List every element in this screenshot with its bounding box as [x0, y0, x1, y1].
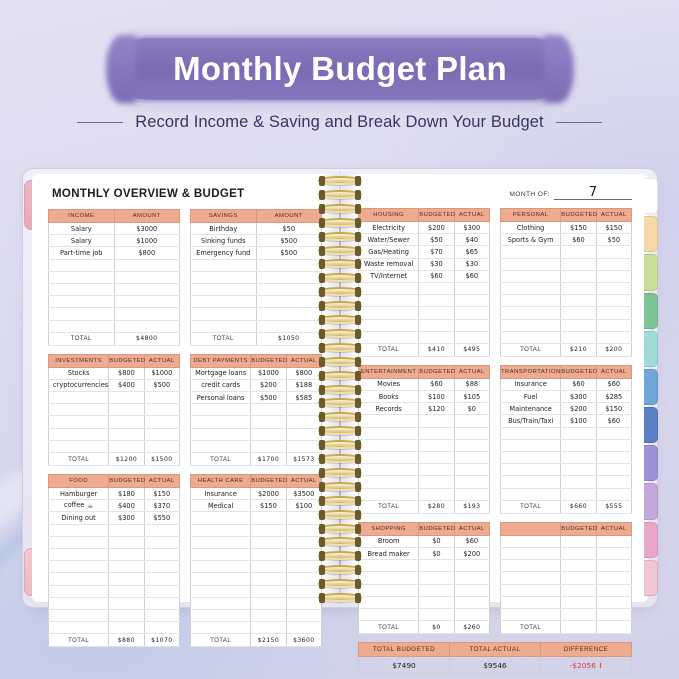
- table-row[interactable]: Gas/Heating$70$65: [359, 246, 490, 258]
- empty-cell[interactable]: [191, 524, 251, 536]
- table-row[interactable]: Medical$150$100: [191, 500, 322, 512]
- row-value[interactable]: $60: [561, 378, 596, 390]
- empty-cell[interactable]: [191, 296, 257, 308]
- row-label[interactable]: Mortgage loans: [191, 367, 251, 379]
- table-row-blank[interactable]: [359, 439, 490, 451]
- row-value[interactable]: $300: [109, 512, 144, 524]
- empty-cell[interactable]: [359, 572, 419, 584]
- empty-cell[interactable]: [359, 439, 419, 451]
- row-label[interactable]: Part-time job: [49, 247, 115, 259]
- empty-cell[interactable]: [114, 283, 180, 295]
- empty-cell[interactable]: [561, 572, 596, 584]
- empty-cell[interactable]: [454, 415, 489, 427]
- table-row-blank[interactable]: [191, 548, 322, 560]
- table-row-blank[interactable]: [501, 464, 632, 476]
- empty-cell[interactable]: [286, 440, 321, 452]
- empty-cell[interactable]: [191, 271, 257, 283]
- empty-cell[interactable]: [49, 561, 109, 573]
- table-row-blank[interactable]: [359, 596, 490, 608]
- row-label[interactable]: Movies: [359, 378, 419, 390]
- empty-cell[interactable]: [501, 452, 561, 464]
- row-label[interactable]: Salary: [49, 235, 115, 247]
- table-row-blank[interactable]: [501, 488, 632, 500]
- table-row-blank[interactable]: [49, 440, 180, 452]
- table-row-blank[interactable]: [191, 320, 322, 332]
- empty-cell[interactable]: [286, 622, 321, 634]
- empty-cell[interactable]: [286, 416, 321, 428]
- empty-cell[interactable]: [419, 608, 454, 620]
- empty-cell[interactable]: [251, 536, 286, 548]
- table-row[interactable]: Insurance$2000$3500: [191, 488, 322, 500]
- empty-cell[interactable]: [454, 560, 489, 572]
- row-value[interactable]: $60: [454, 270, 489, 282]
- empty-cell[interactable]: [454, 608, 489, 620]
- table-row[interactable]: Dining out$300$550: [49, 512, 180, 524]
- row-value[interactable]: $188: [286, 379, 321, 391]
- table-row-blank[interactable]: [49, 308, 180, 320]
- empty-cell[interactable]: [109, 548, 144, 560]
- empty-cell[interactable]: [251, 440, 286, 452]
- row-value[interactable]: $0: [454, 403, 489, 415]
- table-row-blank[interactable]: [359, 560, 490, 572]
- empty-cell[interactable]: [144, 440, 179, 452]
- table-row[interactable]: TV/Internet$60$60: [359, 270, 490, 282]
- row-value[interactable]: $800: [109, 367, 144, 379]
- empty-cell[interactable]: [251, 428, 286, 440]
- empty-cell[interactable]: [419, 488, 454, 500]
- table-row[interactable]: Salary$1000: [49, 235, 180, 247]
- row-label[interactable]: Dining out: [49, 512, 109, 524]
- row-value[interactable]: $300: [454, 222, 489, 234]
- row-label[interactable]: Gas/Heating: [359, 246, 419, 258]
- empty-cell[interactable]: [251, 609, 286, 621]
- row-value[interactable]: $150: [144, 488, 179, 500]
- empty-cell[interactable]: [419, 584, 454, 596]
- divider-tab-5[interactable]: [644, 369, 658, 405]
- empty-cell[interactable]: [114, 271, 180, 283]
- row-value[interactable]: $100: [561, 415, 596, 427]
- empty-cell[interactable]: [454, 452, 489, 464]
- row-value[interactable]: $550: [144, 512, 179, 524]
- table-row-blank[interactable]: [191, 404, 322, 416]
- empty-cell[interactable]: [114, 308, 180, 320]
- empty-cell[interactable]: [359, 488, 419, 500]
- empty-cell[interactable]: [501, 295, 561, 307]
- row-value[interactable]: $100: [286, 500, 321, 512]
- row-value[interactable]: $300: [561, 391, 596, 403]
- row-label[interactable]: Electricity: [359, 222, 419, 234]
- empty-cell[interactable]: [191, 308, 257, 320]
- divider-tab-0[interactable]: [644, 178, 658, 214]
- summary-value[interactable]: $7490: [359, 657, 450, 674]
- empty-cell[interactable]: [359, 331, 419, 343]
- table-row-blank[interactable]: [359, 488, 490, 500]
- table-row-blank[interactable]: [191, 561, 322, 573]
- row-value[interactable]: $180: [109, 488, 144, 500]
- empty-cell[interactable]: [286, 524, 321, 536]
- empty-cell[interactable]: [454, 307, 489, 319]
- empty-cell[interactable]: [109, 585, 144, 597]
- empty-cell[interactable]: [561, 464, 596, 476]
- row-label[interactable]: Bread maker: [359, 547, 419, 559]
- empty-cell[interactable]: [49, 320, 115, 332]
- empty-cell[interactable]: [419, 596, 454, 608]
- empty-cell[interactable]: [191, 440, 251, 452]
- empty-cell[interactable]: [501, 476, 561, 488]
- month-of-field[interactable]: MONTH OF: 7: [509, 186, 632, 200]
- empty-cell[interactable]: [596, 307, 631, 319]
- empty-cell[interactable]: [419, 464, 454, 476]
- empty-cell[interactable]: [286, 536, 321, 548]
- table-row-blank[interactable]: [359, 476, 490, 488]
- empty-cell[interactable]: [359, 596, 419, 608]
- row-label[interactable]: credit cards: [191, 379, 251, 391]
- empty-cell[interactable]: [359, 427, 419, 439]
- empty-cell[interactable]: [561, 452, 596, 464]
- table-row-blank[interactable]: [501, 572, 632, 584]
- row-label[interactable]: Bus/Train/Taxi: [501, 415, 561, 427]
- table-row[interactable]: Waste removal$30$30: [359, 258, 490, 270]
- row-value[interactable]: $500: [144, 379, 179, 391]
- table-row-blank[interactable]: [49, 597, 180, 609]
- empty-cell[interactable]: [49, 573, 109, 585]
- empty-cell[interactable]: [596, 246, 631, 258]
- row-value[interactable]: $50: [596, 234, 631, 246]
- row-value[interactable]: $370: [144, 500, 179, 512]
- summary-value[interactable]: $9546: [450, 657, 541, 674]
- row-value[interactable]: $60: [419, 270, 454, 282]
- table-row[interactable]: Stocks$800$1000: [49, 367, 180, 379]
- empty-cell[interactable]: [49, 536, 109, 548]
- empty-cell[interactable]: [561, 596, 596, 608]
- empty-cell[interactable]: [419, 476, 454, 488]
- row-label[interactable]: Broom: [359, 535, 419, 547]
- row-label[interactable]: TV/Internet: [359, 270, 419, 282]
- row-value[interactable]: $400: [109, 500, 144, 512]
- empty-cell[interactable]: [49, 392, 109, 404]
- empty-cell[interactable]: [419, 282, 454, 294]
- empty-cell[interactable]: [109, 536, 144, 548]
- empty-cell[interactable]: [596, 282, 631, 294]
- row-value[interactable]: $120: [419, 403, 454, 415]
- row-value[interactable]: $60: [596, 415, 631, 427]
- table-row[interactable]: Movies$60$88: [359, 378, 490, 390]
- empty-cell[interactable]: [359, 452, 419, 464]
- table-row[interactable]: Water/Sewer$50$40: [359, 234, 490, 246]
- empty-cell[interactable]: [251, 416, 286, 428]
- empty-cell[interactable]: [596, 584, 631, 596]
- empty-cell[interactable]: [49, 283, 115, 295]
- table-row[interactable]: credit cards$200$188: [191, 379, 322, 391]
- table-row-blank[interactable]: [501, 560, 632, 572]
- row-value[interactable]: $400: [109, 379, 144, 391]
- empty-cell[interactable]: [49, 548, 109, 560]
- empty-cell[interactable]: [251, 597, 286, 609]
- table-row[interactable]: cryptocurrencies$400$500: [49, 379, 180, 391]
- empty-cell[interactable]: [359, 307, 419, 319]
- empty-cell[interactable]: [49, 524, 109, 536]
- table-row-blank[interactable]: [49, 622, 180, 634]
- table-row-blank[interactable]: [501, 452, 632, 464]
- row-value[interactable]: $200: [419, 222, 454, 234]
- empty-cell[interactable]: [596, 560, 631, 572]
- empty-cell[interactable]: [191, 259, 257, 271]
- empty-cell[interactable]: [286, 609, 321, 621]
- empty-cell[interactable]: [454, 427, 489, 439]
- empty-cell[interactable]: [144, 536, 179, 548]
- table-row-blank[interactable]: [191, 440, 322, 452]
- table-row-blank[interactable]: [359, 307, 490, 319]
- empty-cell[interactable]: [359, 464, 419, 476]
- empty-cell[interactable]: [419, 331, 454, 343]
- empty-cell[interactable]: [109, 573, 144, 585]
- table-row-blank[interactable]: [191, 536, 322, 548]
- row-value[interactable]: $30: [454, 258, 489, 270]
- empty-cell[interactable]: [561, 488, 596, 500]
- empty-cell[interactable]: [596, 464, 631, 476]
- empty-cell[interactable]: [359, 282, 419, 294]
- table-row[interactable]: Records$120$0: [359, 403, 490, 415]
- table-row-blank[interactable]: [191, 622, 322, 634]
- row-value[interactable]: $60: [596, 378, 631, 390]
- row-label[interactable]: Fuel: [501, 391, 561, 403]
- empty-cell[interactable]: [419, 560, 454, 572]
- empty-cell[interactable]: [561, 547, 596, 559]
- empty-cell[interactable]: [286, 573, 321, 585]
- empty-cell[interactable]: [191, 416, 251, 428]
- divider-tab-7[interactable]: [644, 445, 658, 481]
- empty-cell[interactable]: [561, 331, 596, 343]
- table-row-blank[interactable]: [359, 584, 490, 596]
- empty-cell[interactable]: [501, 427, 561, 439]
- empty-cell[interactable]: [49, 428, 109, 440]
- empty-cell[interactable]: [501, 596, 561, 608]
- empty-cell[interactable]: [561, 560, 596, 572]
- table-row-blank[interactable]: [359, 452, 490, 464]
- empty-cell[interactable]: [191, 548, 251, 560]
- empty-cell[interactable]: [114, 320, 180, 332]
- row-label[interactable]: cryptocurrencies: [49, 379, 109, 391]
- table-row[interactable]: Electricity$200$300: [359, 222, 490, 234]
- empty-cell[interactable]: [191, 283, 257, 295]
- empty-cell[interactable]: [501, 282, 561, 294]
- empty-cell[interactable]: [419, 427, 454, 439]
- empty-cell[interactable]: [561, 282, 596, 294]
- row-label[interactable]: Emergency fund: [191, 247, 257, 259]
- row-value[interactable]: $0: [419, 535, 454, 547]
- row-value[interactable]: $0: [419, 547, 454, 559]
- empty-cell[interactable]: [596, 270, 631, 282]
- empty-cell[interactable]: [109, 597, 144, 609]
- table-row[interactable]: Emergency fund$500: [191, 247, 322, 259]
- table-row-blank[interactable]: [501, 258, 632, 270]
- table-row[interactable]: Bread maker$0$200: [359, 547, 490, 559]
- table-row[interactable]: Bus/Train/Taxi$100$60: [501, 415, 632, 427]
- divider-tab-6[interactable]: [644, 407, 658, 443]
- empty-cell[interactable]: [49, 585, 109, 597]
- empty-cell[interactable]: [109, 392, 144, 404]
- table-row-blank[interactable]: [49, 585, 180, 597]
- table-row-blank[interactable]: [191, 296, 322, 308]
- empty-cell[interactable]: [49, 622, 109, 634]
- empty-cell[interactable]: [561, 307, 596, 319]
- empty-cell[interactable]: [454, 476, 489, 488]
- table-row-blank[interactable]: [191, 512, 322, 524]
- row-value[interactable]: $200: [251, 379, 286, 391]
- empty-cell[interactable]: [49, 440, 109, 452]
- row-value[interactable]: $150: [561, 222, 596, 234]
- empty-cell[interactable]: [144, 597, 179, 609]
- empty-cell[interactable]: [501, 246, 561, 258]
- empty-cell[interactable]: [454, 295, 489, 307]
- row-value[interactable]: $50: [256, 223, 322, 235]
- empty-cell[interactable]: [256, 283, 322, 295]
- table-row-blank[interactable]: [501, 270, 632, 282]
- empty-cell[interactable]: [49, 296, 115, 308]
- empty-cell[interactable]: [251, 512, 286, 524]
- row-value[interactable]: $1000: [144, 367, 179, 379]
- empty-cell[interactable]: [191, 561, 251, 573]
- empty-cell[interactable]: [454, 584, 489, 596]
- empty-cell[interactable]: [561, 270, 596, 282]
- table-row-blank[interactable]: [49, 573, 180, 585]
- table-row-blank[interactable]: [501, 608, 632, 620]
- row-value[interactable]: $500: [251, 392, 286, 404]
- empty-cell[interactable]: [251, 561, 286, 573]
- empty-cell[interactable]: [109, 609, 144, 621]
- empty-cell[interactable]: [109, 440, 144, 452]
- table-row[interactable]: Fuel$300$285: [501, 391, 632, 403]
- table-row-blank[interactable]: [359, 608, 490, 620]
- empty-cell[interactable]: [501, 319, 561, 331]
- row-label[interactable]: Birthday: [191, 223, 257, 235]
- row-label[interactable]: Maintenance: [501, 403, 561, 415]
- empty-cell[interactable]: [596, 572, 631, 584]
- row-value[interactable]: $500: [256, 235, 322, 247]
- empty-cell[interactable]: [256, 296, 322, 308]
- empty-cell[interactable]: [191, 622, 251, 634]
- row-label[interactable]: Water/Sewer: [359, 234, 419, 246]
- empty-cell[interactable]: [49, 597, 109, 609]
- empty-cell[interactable]: [251, 585, 286, 597]
- empty-cell[interactable]: [419, 415, 454, 427]
- empty-cell[interactable]: [359, 584, 419, 596]
- row-value[interactable]: $65: [454, 246, 489, 258]
- table-row-blank[interactable]: [49, 416, 180, 428]
- empty-cell[interactable]: [596, 488, 631, 500]
- empty-cell[interactable]: [191, 573, 251, 585]
- empty-cell[interactable]: [109, 404, 144, 416]
- empty-cell[interactable]: [561, 535, 596, 547]
- empty-cell[interactable]: [596, 476, 631, 488]
- divider-tab-3[interactable]: [644, 293, 658, 329]
- empty-cell[interactable]: [454, 464, 489, 476]
- empty-cell[interactable]: [596, 439, 631, 451]
- row-value[interactable]: $88: [454, 378, 489, 390]
- empty-cell[interactable]: [501, 572, 561, 584]
- empty-cell[interactable]: [191, 512, 251, 524]
- empty-cell[interactable]: [286, 404, 321, 416]
- empty-cell[interactable]: [501, 307, 561, 319]
- empty-cell[interactable]: [501, 439, 561, 451]
- empty-cell[interactable]: [49, 271, 115, 283]
- row-value[interactable]: $3000: [114, 223, 180, 235]
- table-row-blank[interactable]: [49, 392, 180, 404]
- table-row-blank[interactable]: [501, 282, 632, 294]
- table-row[interactable]: Maintenance$200$150: [501, 403, 632, 415]
- empty-cell[interactable]: [454, 572, 489, 584]
- row-value[interactable]: $1000: [114, 235, 180, 247]
- empty-cell[interactable]: [359, 608, 419, 620]
- divider-tab-8[interactable]: [644, 483, 658, 519]
- empty-cell[interactable]: [144, 561, 179, 573]
- empty-cell[interactable]: [49, 404, 109, 416]
- row-value[interactable]: $150: [596, 222, 631, 234]
- table-row-blank[interactable]: [49, 524, 180, 536]
- table-row-blank[interactable]: [191, 416, 322, 428]
- empty-cell[interactable]: [419, 307, 454, 319]
- empty-cell[interactable]: [109, 416, 144, 428]
- empty-cell[interactable]: [256, 308, 322, 320]
- empty-cell[interactable]: [596, 258, 631, 270]
- table-row[interactable]: Books$100$105: [359, 391, 490, 403]
- row-value[interactable]: $150: [251, 500, 286, 512]
- table-row[interactable]: Part-time job$800: [49, 247, 180, 259]
- table-row-blank[interactable]: [49, 271, 180, 283]
- empty-cell[interactable]: [454, 319, 489, 331]
- row-value[interactable]: $200: [561, 403, 596, 415]
- table-row-blank[interactable]: [359, 427, 490, 439]
- empty-cell[interactable]: [596, 547, 631, 559]
- empty-cell[interactable]: [454, 282, 489, 294]
- empty-cell[interactable]: [596, 331, 631, 343]
- empty-cell[interactable]: [419, 452, 454, 464]
- empty-cell[interactable]: [191, 585, 251, 597]
- summary-value[interactable]: -$2056!: [541, 657, 632, 674]
- table-row-blank[interactable]: [359, 415, 490, 427]
- empty-cell[interactable]: [561, 476, 596, 488]
- empty-cell[interactable]: [501, 535, 561, 547]
- table-row[interactable]: Hamburger$180$150: [49, 488, 180, 500]
- empty-cell[interactable]: [561, 584, 596, 596]
- empty-cell[interactable]: [251, 573, 286, 585]
- table-row[interactable]: Mortgage loans$1000$800: [191, 367, 322, 379]
- empty-cell[interactable]: [419, 572, 454, 584]
- empty-cell[interactable]: [251, 622, 286, 634]
- row-label[interactable]: Personal loans: [191, 392, 251, 404]
- empty-cell[interactable]: [286, 512, 321, 524]
- empty-cell[interactable]: [359, 319, 419, 331]
- row-label[interactable]: Records: [359, 403, 419, 415]
- row-label[interactable]: Insurance: [191, 488, 251, 500]
- table-row-blank[interactable]: [191, 428, 322, 440]
- table-row[interactable]: Birthday$50: [191, 223, 322, 235]
- empty-cell[interactable]: [501, 608, 561, 620]
- empty-cell[interactable]: [596, 295, 631, 307]
- row-label[interactable]: Stocks: [49, 367, 109, 379]
- empty-cell[interactable]: [144, 548, 179, 560]
- table-row-blank[interactable]: [501, 307, 632, 319]
- table-row-blank[interactable]: [191, 573, 322, 585]
- empty-cell[interactable]: [454, 331, 489, 343]
- empty-cell[interactable]: [501, 258, 561, 270]
- table-row[interactable]: Personal loans$500$585: [191, 392, 322, 404]
- table-row-blank[interactable]: [49, 283, 180, 295]
- empty-cell[interactable]: [359, 476, 419, 488]
- empty-cell[interactable]: [191, 428, 251, 440]
- empty-cell[interactable]: [286, 548, 321, 560]
- divider-tab-10[interactable]: [644, 560, 658, 596]
